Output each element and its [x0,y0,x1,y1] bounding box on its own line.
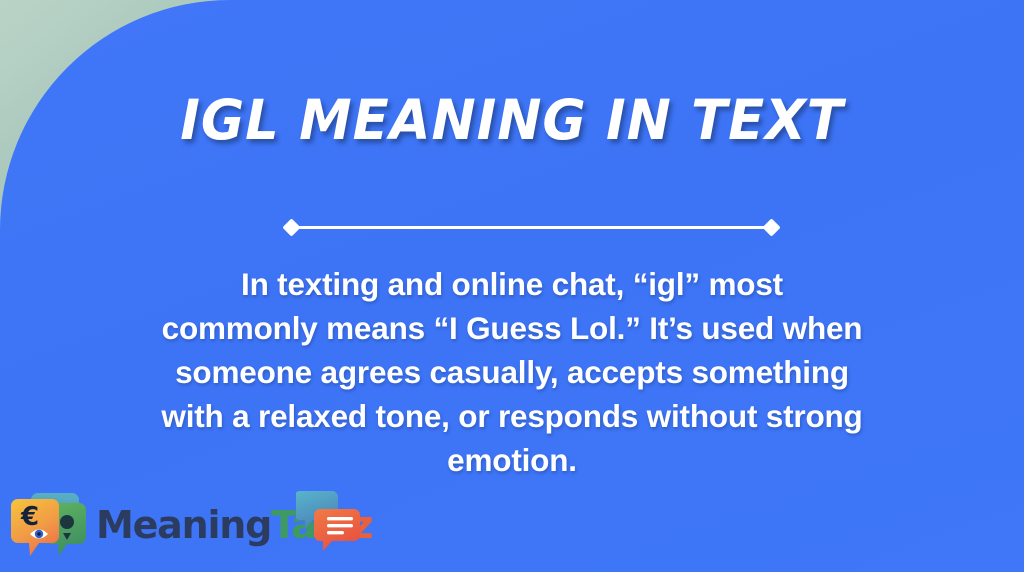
brand-logo: € MeaningTalkz [8,489,360,567]
logo-word-meaning: Meaning [96,503,271,547]
logo-mark-icon: € [8,489,94,567]
decorative-divider [285,220,778,236]
logo-speech-bubbles-icon [296,489,360,555]
image-canvas: IGL MEANING IN TEXT In texting and onlin… [0,0,1024,572]
diamond-right-icon [762,218,780,236]
svg-text:€: € [20,502,39,532]
page-title: IGL MEANING IN TEXT [20,88,1003,152]
divider-line [293,226,770,229]
body-paragraph: In texting and online chat, “igl” most c… [160,262,864,482]
